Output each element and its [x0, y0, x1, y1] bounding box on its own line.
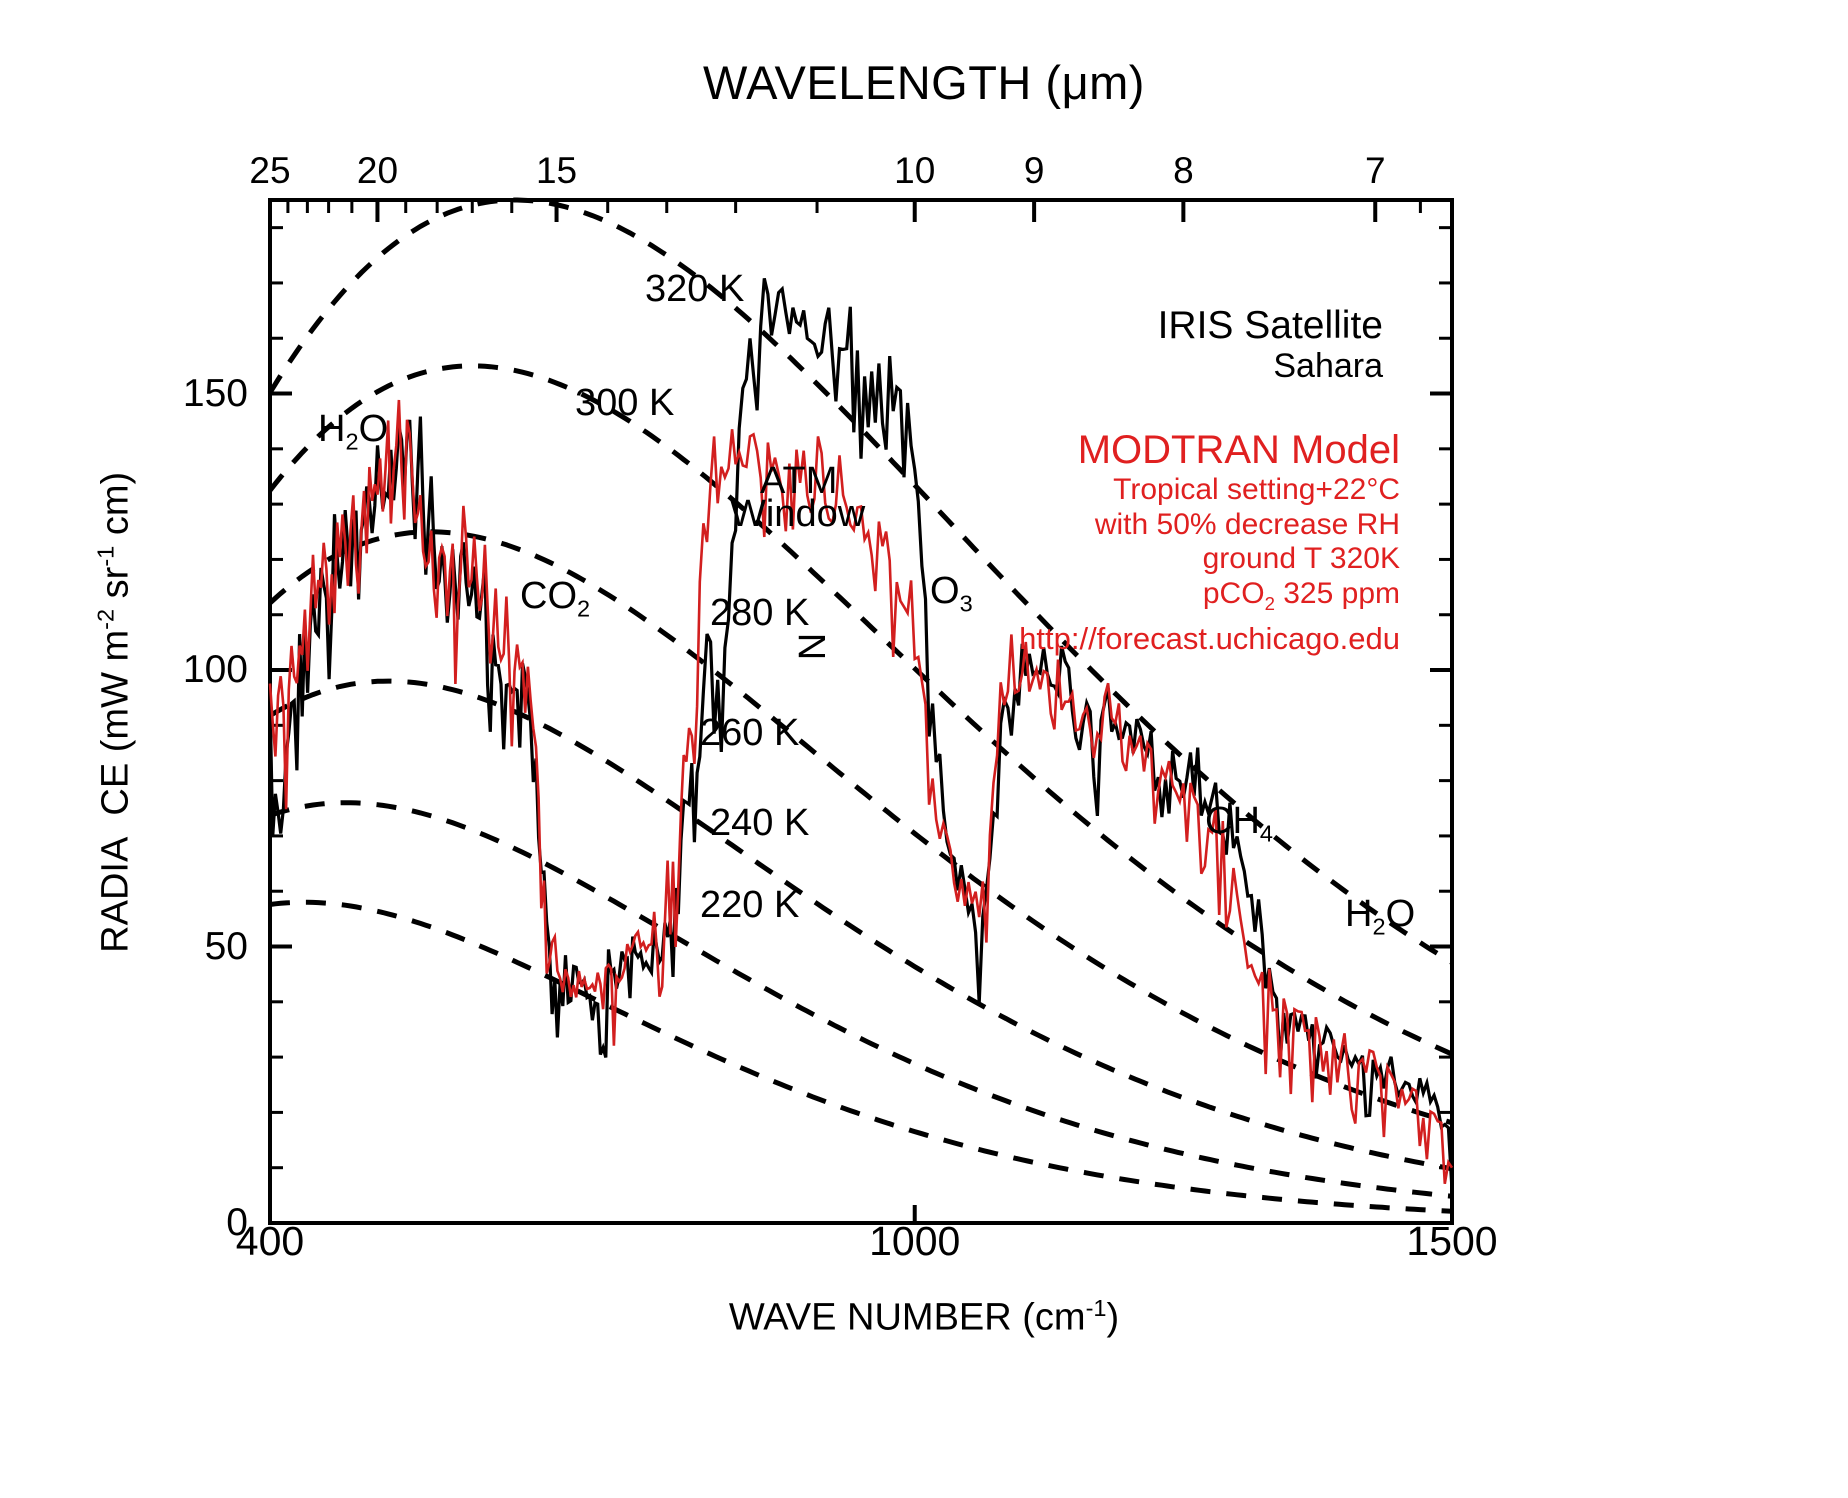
blackbody-label-320K: 320 K: [645, 268, 744, 311]
annotation-atm-window-2: Window: [730, 493, 865, 536]
annotation-n-mark: N: [792, 633, 835, 660]
blackbody-label-240K: 240 K: [710, 802, 809, 845]
annotation-o3: O3: [930, 570, 973, 618]
chart-root: WAVELENGTH (μm) 25201510987 050100150 40…: [0, 0, 1848, 1498]
blackbody-label-300K: 300 K: [575, 382, 674, 425]
annotation-h2o-left: H2O: [318, 408, 388, 456]
annotation-co2: CO2: [520, 575, 590, 623]
annotation-h2o-right: H2O: [1345, 893, 1415, 941]
annotation-ch4: CH4: [1205, 800, 1273, 848]
plot-annotations-layer: 320 K300 K280 K260 K240 K220 KH2OCO2ATMW…: [0, 0, 1848, 1498]
blackbody-label-260K: 260 K: [700, 712, 799, 755]
blackbody-label-280K: 280 K: [710, 592, 809, 635]
blackbody-label-220K: 220 K: [700, 884, 799, 927]
